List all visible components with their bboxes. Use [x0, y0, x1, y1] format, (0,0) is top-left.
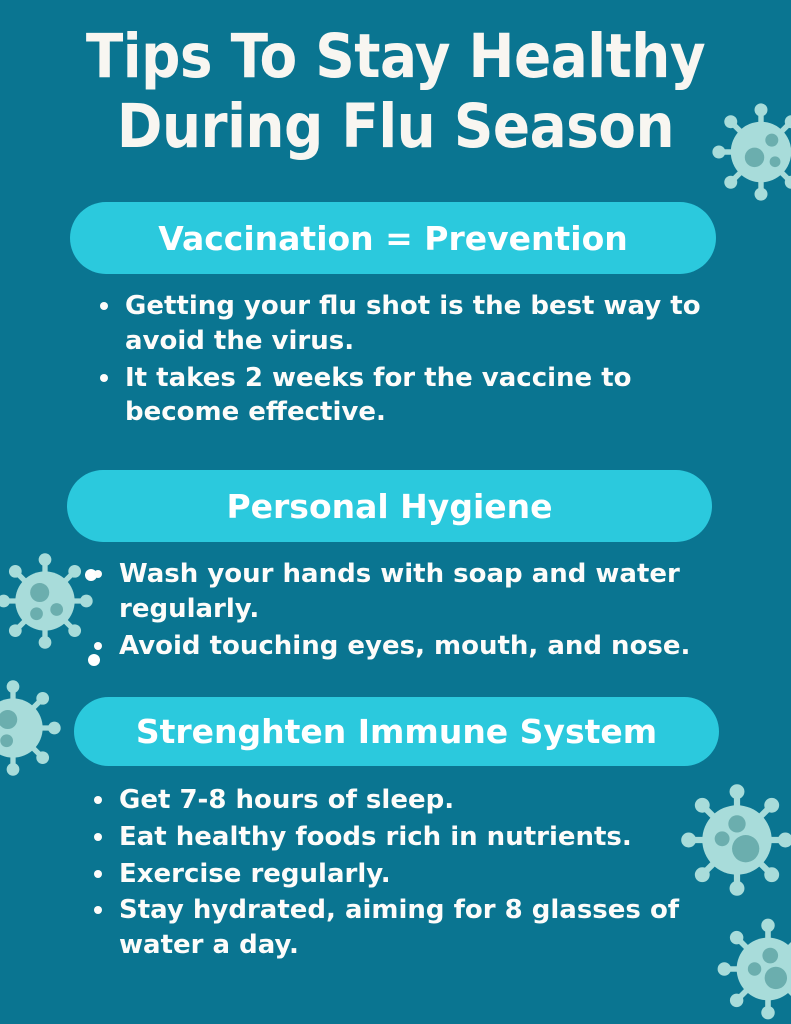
infographic-poster: Tips To Stay Healthy During Flu Season V… — [0, 0, 791, 1024]
section-heading-vaccination: Vaccination = Prevention — [70, 202, 716, 274]
section-bullets-vaccination: Getting your flu shot is the best way to… — [94, 289, 734, 432]
list-item: It takes 2 weeks for the vaccine to beco… — [94, 361, 734, 431]
list-item: Exercise regularly. — [88, 857, 728, 892]
list-item: Avoid touching eyes, mouth, and nose. — [88, 629, 748, 664]
list-item: Eat healthy foods rich in nutrients. — [88, 820, 728, 855]
section-heading-strengthen-immune-system: Strenghten Immune System — [74, 697, 719, 766]
page-title: Tips To Stay Healthy During Flu Season — [0, 22, 791, 161]
list-item: Get 7-8 hours of sleep. — [88, 783, 728, 818]
section-heading-personal-hygiene: Personal Hygiene — [67, 470, 712, 542]
section-bullets-personal-hygiene: Wash your hands with soap and water regu… — [88, 557, 748, 665]
section-bullets-strengthen-immune-system: Get 7-8 hours of sleep. Eat healthy food… — [88, 783, 728, 965]
list-item: Wash your hands with soap and water regu… — [88, 557, 748, 627]
list-item: Stay hydrated, aiming for 8 glasses of w… — [88, 893, 728, 963]
list-item: Getting your flu shot is the best way to… — [94, 289, 734, 359]
